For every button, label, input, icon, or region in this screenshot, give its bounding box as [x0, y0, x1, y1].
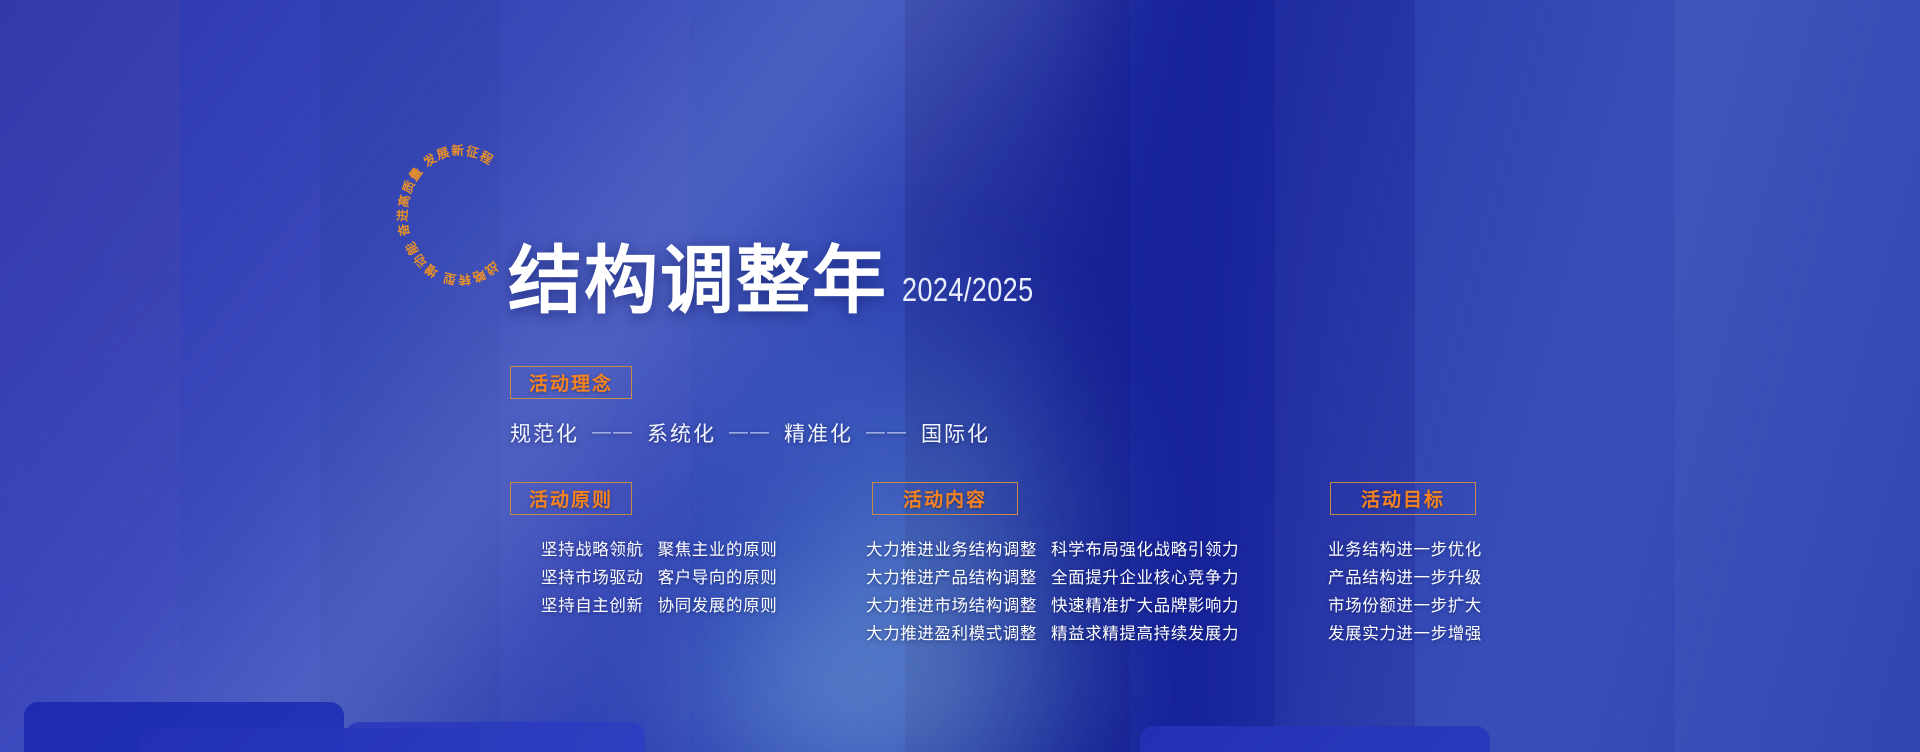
title-row: 结构调整年 2024/2025: [508, 246, 1063, 316]
row-part-a: 坚持自主创新: [541, 592, 644, 620]
list-item: 产品结构进一步升级: [1328, 564, 1482, 592]
badge-principles[interactable]: 活动原则: [510, 482, 632, 515]
year-range: 2024/2025: [902, 271, 1034, 309]
list-item: 坚持自主创新 协同发展的原则: [541, 592, 777, 620]
row-part-a: 坚持战略领航: [541, 536, 644, 564]
concept-separator-2: ——: [866, 422, 908, 444]
concept-item-1: 系统化: [647, 418, 716, 448]
page-title: 结构调整年: [508, 246, 888, 316]
column-goals: 业务结构进一步优化 产品结构进一步升级 市场份额进一步扩大 发展实力进一步增强: [1328, 536, 1482, 648]
seal-top-text: 奋进高质量 发展新征程: [395, 143, 497, 239]
row-part-b: 协同发展的原则: [658, 592, 778, 620]
row-part-b: 全面提升企业核心竞争力: [1051, 564, 1239, 592]
row-part-a: 大力推进产品结构调整: [866, 564, 1037, 592]
column-principles: 坚持战略领航 聚焦主业的原则 坚持市场驱动 客户导向的原则 坚持自主创新 协同发…: [541, 536, 777, 620]
row-part-b: 科学布局强化战略引领力: [1051, 536, 1239, 564]
row-part-a: 产品结构进一步升级: [1328, 564, 1482, 592]
row-part-a: 坚持市场驱动: [541, 564, 644, 592]
list-item: 坚持战略领航 聚焦主业的原则: [541, 536, 777, 564]
poster-content: 奋进高质量 发展新征程 战略转型 增动能 结构调整年 2024/2025 活动理…: [0, 0, 1920, 752]
list-item: 业务结构进一步优化: [1328, 536, 1482, 564]
row-part-a: 大力推进市场结构调整: [866, 592, 1037, 620]
row-part-a: 市场份额进一步扩大: [1328, 592, 1482, 620]
concept-list: 规范化 —— 系统化 —— 精准化 —— 国际化: [510, 418, 990, 448]
badge-concept[interactable]: 活动理念: [510, 366, 632, 399]
list-item: 发展实力进一步增强: [1328, 620, 1482, 648]
concept-item-0: 规范化: [510, 418, 579, 448]
row-part-a: 大力推进业务结构调整: [866, 536, 1037, 564]
badge-activities[interactable]: 活动内容: [872, 482, 1018, 515]
row-part-a: 业务结构进一步优化: [1328, 536, 1482, 564]
list-item: 坚持市场驱动 客户导向的原则: [541, 564, 777, 592]
list-item: 大力推进盈利模式调整 精益求精提高持续发展力: [866, 620, 1239, 648]
list-item: 市场份额进一步扩大: [1328, 592, 1482, 620]
row-part-a: 大力推进盈利模式调整: [866, 620, 1037, 648]
list-item: 大力推进产品结构调整 全面提升企业核心竞争力: [866, 564, 1239, 592]
row-part-b: 快速精准扩大品牌影响力: [1051, 592, 1239, 620]
concept-separator-0: ——: [592, 422, 634, 444]
row-part-b: 客户导向的原则: [658, 564, 778, 592]
row-part-b: 聚焦主业的原则: [658, 536, 778, 564]
row-part-a: 发展实力进一步增强: [1328, 620, 1482, 648]
seal-bottom-text: 战略转型 增动能: [402, 239, 502, 288]
concept-item-2: 精准化: [784, 418, 853, 448]
concept-separator-1: ——: [729, 422, 771, 444]
badge-goals[interactable]: 活动目标: [1330, 482, 1476, 515]
concept-item-3: 国际化: [921, 418, 990, 448]
list-item: 大力推进业务结构调整 科学布局强化战略引领力: [866, 536, 1239, 564]
circular-seal: 奋进高质量 发展新征程 战略转型 增动能: [404, 138, 514, 298]
row-part-b: 精益求精提高持续发展力: [1051, 620, 1239, 648]
list-item: 大力推进市场结构调整 快速精准扩大品牌影响力: [866, 592, 1239, 620]
column-activities: 大力推进业务结构调整 科学布局强化战略引领力 大力推进产品结构调整 全面提升企业…: [866, 536, 1239, 648]
